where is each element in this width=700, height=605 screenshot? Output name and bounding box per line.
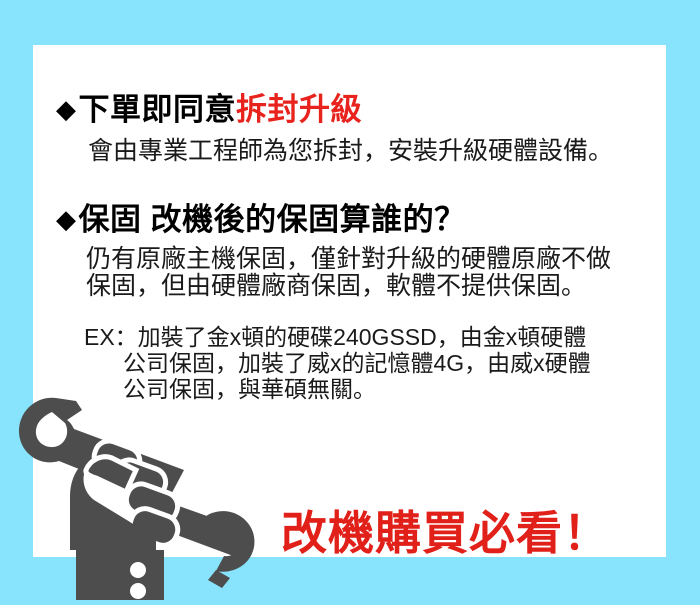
hand-holding-wrench-icon [16,392,256,600]
section-2-heading-text: 保固 改機後的保固算誰的？ [79,202,466,237]
bottom-callout-text: 改機購買必看！ [281,497,610,563]
poster-canvas: ◆下單即同意拆封升級 會由專業工程師為您拆封，安裝升級硬體設備。 ◆保固 改機後… [0,0,700,600]
diamond-bullet-icon: ◆ [56,204,77,234]
section-1-heading-text: 下單即同意 [79,92,237,127]
section-1-heading: ◆下單即同意拆封升級 [56,84,362,129]
section-1-body-line: 會由專業工程師為您拆封，安裝升級硬體設備。 [88,131,613,167]
section-2-heading: ◆保固 改機後的保固算誰的？ [56,194,466,239]
poster-content: ◆下單即同意拆封升級 會由專業工程師為您拆封，安裝升級硬體設備。 ◆保固 改機後… [0,0,700,600]
section-1-heading-accent: 拆封升級 [236,92,362,127]
diamond-bullet-icon: ◆ [56,94,77,124]
section-2-body-line: 保固，但由硬體廠商保固，軟體不提供保固。 [86,266,586,302]
